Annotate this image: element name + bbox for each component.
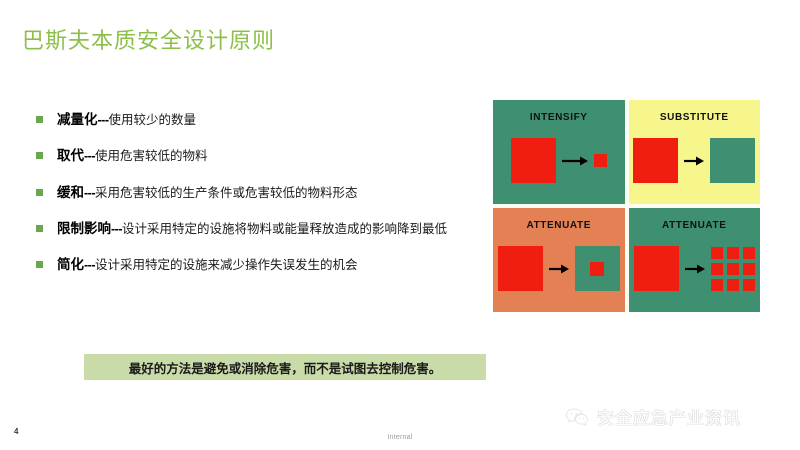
principle-description: 设计采用特定的设施来减少操作失误发生的机会: [95, 258, 358, 272]
grid-square: [727, 263, 739, 275]
principle-description: 设计采用特定的设施将物料或能量释放造成的影响降到最低: [122, 222, 447, 236]
grid-square: [727, 247, 739, 259]
concept-cell-intensify: INTENSIFY: [493, 100, 625, 204]
principle-description: 使用较少的数量: [109, 113, 197, 127]
footer-confidentiality-note: Internal: [0, 434, 800, 441]
principle-keyword: 限制影响: [57, 221, 111, 236]
principle-keyword: 简化: [57, 257, 84, 272]
wechat-icon: [565, 407, 589, 427]
principle-separator: ---: [84, 149, 95, 163]
list-item: 缓和---采用危害较低的生产条件或危害较低的物料形态: [36, 183, 481, 203]
principle-keyword: 减量化: [57, 112, 98, 127]
watermark-label: 安全应急产业资讯: [597, 404, 741, 429]
square-bullet-icon: [36, 189, 43, 196]
large-red-square-shape: [633, 138, 678, 183]
callout-text: 最好的方法是避免或消除危害，而不是试图去控制危害。: [129, 358, 442, 377]
large-red-square-shape: [498, 246, 543, 291]
concept-illustration: [493, 231, 625, 312]
small-red-square-shape: [590, 262, 604, 276]
large-green-square-shape: [710, 138, 755, 183]
list-item: 简化---设计采用特定的设施来减少操作失误发生的机会: [36, 255, 481, 275]
grid-square: [711, 279, 723, 291]
concept-cell-attenuate-conditions: ATTENUATE: [493, 208, 625, 312]
small-red-square-shape: [594, 154, 607, 167]
principle-description: 采用危害较低的生产条件或危害较低的物料形态: [95, 186, 358, 200]
list-item: 限制影响---设计采用特定的设施将物料或能量释放造成的影响降到最低: [36, 219, 481, 239]
list-item: 减量化---使用较少的数量: [36, 110, 481, 130]
principle-keyword: 取代: [57, 148, 84, 163]
square-bullet-icon: [36, 261, 43, 268]
grid-square: [711, 263, 723, 275]
grid-square: [711, 247, 723, 259]
concept-cell-attenuate-divided: ATTENUATE: [629, 208, 761, 312]
grid-square: [743, 247, 755, 259]
right-arrow-icon: [549, 263, 569, 275]
right-arrow-icon: [684, 155, 704, 167]
concept-label: ATTENUATE: [527, 220, 591, 231]
principle-list: 减量化---使用较少的数量 取代---使用危害较低的物料 缓和---采用危害较低…: [36, 110, 481, 291]
principle-separator: ---: [84, 186, 95, 200]
right-arrow-icon: [685, 263, 705, 275]
principle-description: 使用危害较低的物料: [95, 149, 208, 163]
grid-square: [743, 263, 755, 275]
grid-square: [743, 279, 755, 291]
concept-cell-substitute: SUBSTITUTE: [629, 100, 761, 204]
principle-keyword: 缓和: [57, 185, 84, 200]
slide-canvas: 巴斯夫本质安全设计原则 减量化---使用较少的数量 取代---使用危害较低的物料…: [0, 0, 800, 450]
square-bullet-icon: [36, 152, 43, 159]
concept-illustration: [629, 123, 761, 204]
concept-label: ATTENUATE: [662, 220, 726, 231]
principle-text: 缓和---采用危害较低的生产条件或危害较低的物料形态: [57, 183, 481, 203]
three-by-three-red-square-grid-shape: [711, 247, 755, 291]
principle-separator: ---: [98, 113, 109, 127]
concept-label: SUBSTITUTE: [660, 112, 729, 123]
list-item: 取代---使用危害较低的物料: [36, 146, 481, 166]
large-red-square-shape: [634, 246, 679, 291]
principle-separator: ---: [84, 258, 95, 272]
principle-text: 取代---使用危害较低的物料: [57, 146, 481, 166]
concept-illustration: [629, 231, 761, 312]
principle-text: 简化---设计采用特定的设施来减少操作失误发生的机会: [57, 255, 481, 275]
green-square-with-red-core-shape: [575, 246, 620, 291]
principle-separator: ---: [111, 222, 122, 236]
right-arrow-icon: [562, 155, 588, 167]
concept-illustration: [493, 123, 625, 204]
callout-banner: 最好的方法是避免或消除危害，而不是试图去控制危害。: [84, 354, 486, 380]
square-bullet-icon: [36, 225, 43, 232]
large-red-square-shape: [511, 138, 556, 183]
square-bullet-icon: [36, 116, 43, 123]
page-title: 巴斯夫本质安全设计原则: [22, 28, 275, 54]
grid-square: [727, 279, 739, 291]
principle-text: 减量化---使用较少的数量: [57, 110, 481, 130]
principle-text: 限制影响---设计采用特定的设施将物料或能量释放造成的影响降到最低: [57, 219, 481, 239]
watermark: 安全应急产业资讯: [565, 404, 741, 429]
concept-diagram-grid: INTENSIFY SUBSTITUTE: [493, 100, 760, 312]
concept-label: INTENSIFY: [530, 112, 588, 123]
